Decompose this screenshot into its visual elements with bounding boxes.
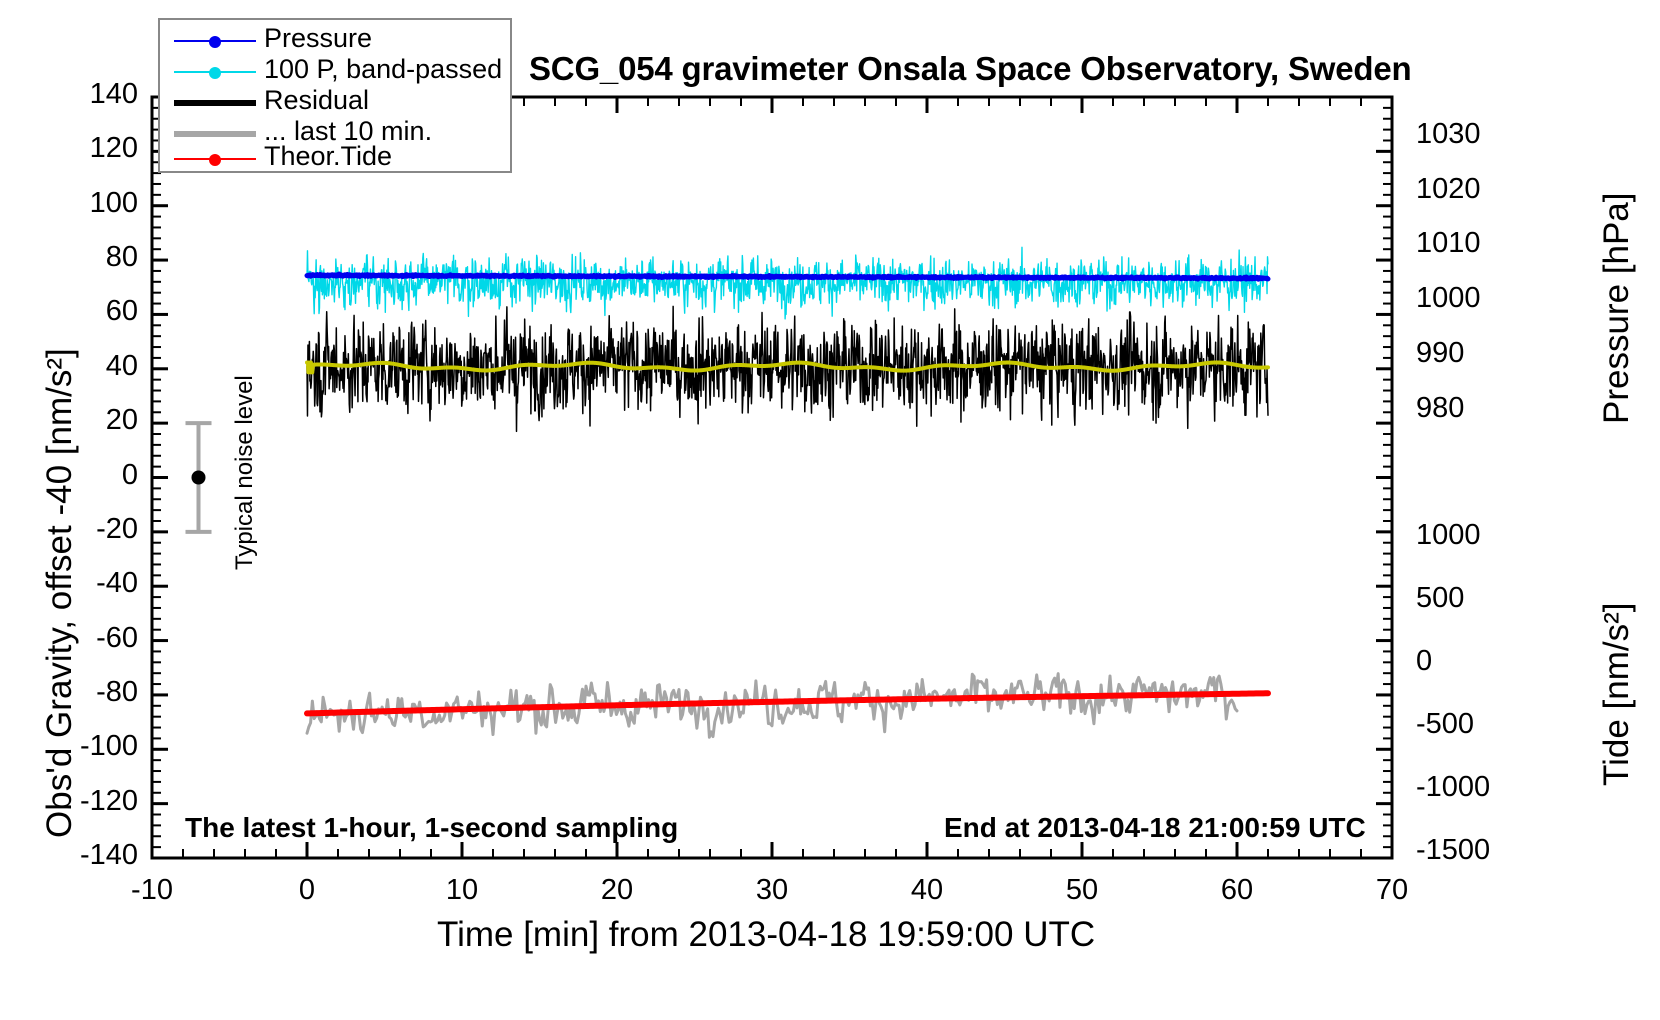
- x-tick-label: 60: [1197, 874, 1277, 907]
- legend-swatch-dot: [209, 67, 221, 79]
- legend-item-pressure[interactable]: Pressure: [160, 26, 510, 57]
- y-left-tick-label: -100: [0, 730, 138, 763]
- y-left-tick-label: -60: [0, 622, 138, 655]
- series-bandpassed-pressure: [307, 247, 1268, 319]
- legend-swatch-line: [174, 131, 256, 137]
- x-tick-label: 50: [1042, 874, 1122, 907]
- y-right-pressure-tick-label: 1020: [1416, 173, 1481, 206]
- noise-level-label: Typical noise level: [231, 375, 259, 570]
- x-tick-label: 30: [732, 874, 812, 907]
- chart-figure: SCG_054 gravimeter Onsala Space Observat…: [0, 0, 1660, 1020]
- legend: Pressure 100 P, band-passed Residual ...…: [158, 18, 512, 173]
- x-tick-label: 10: [422, 874, 502, 907]
- y-left-tick-label: 140: [0, 78, 138, 111]
- x-tick-label: 40: [887, 874, 967, 907]
- y-left-tick-label: 40: [0, 350, 138, 383]
- x-tick-label: -10: [112, 874, 192, 907]
- y-left-tick-label: 0: [0, 459, 138, 492]
- y-left-tick-label: -80: [0, 676, 138, 709]
- y-axis-right-pressure-title: Pressure [hPa]: [1597, 193, 1637, 425]
- legend-item-theortide[interactable]: Theor.Tide: [160, 144, 510, 175]
- y-right-tide-tick-label: -1500: [1416, 834, 1490, 867]
- series-last-10-min: [307, 674, 1237, 738]
- y-right-tide-tick-label: 500: [1416, 582, 1464, 615]
- legend-item-residual[interactable]: Residual: [160, 88, 510, 119]
- x-tick-label: 70: [1352, 874, 1432, 907]
- y-right-tide-tick-label: 0: [1416, 645, 1432, 678]
- y-right-pressure-tick-label: 1030: [1416, 118, 1481, 151]
- y-left-tick-label: -40: [0, 567, 138, 600]
- series-pressure: [307, 274, 1268, 279]
- y-left-tick-label: 100: [0, 187, 138, 220]
- plot-frame: [152, 97, 1392, 858]
- axis-ticks: [152, 97, 1392, 858]
- y-right-tide-tick-label: 1000: [1416, 519, 1481, 552]
- y-right-pressure-tick-label: 1000: [1416, 282, 1481, 315]
- legend-label: Theor.Tide: [264, 141, 392, 172]
- x-tick-label: 0: [267, 874, 347, 907]
- y-left-tick-label: 60: [0, 295, 138, 328]
- footer-right-note: End at 2013-04-18 21:00:59 UTC: [944, 812, 1366, 844]
- legend-label: Pressure: [264, 23, 372, 54]
- legend-swatch-dot: [209, 154, 221, 166]
- y-left-tick-label: -120: [0, 785, 138, 818]
- legend-label: Residual: [264, 85, 369, 116]
- footer-left-note: The latest 1-hour, 1-second sampling: [185, 812, 678, 844]
- y-left-tick-label: 120: [0, 132, 138, 165]
- y-right-tide-tick-label: -1000: [1416, 771, 1490, 804]
- legend-swatch-line: [174, 100, 256, 106]
- legend-label: 100 P, band-passed: [264, 54, 502, 85]
- chart-title: SCG_054 gravimeter Onsala Space Observat…: [529, 50, 1411, 88]
- y-right-tide-tick-label: -500: [1416, 708, 1474, 741]
- y-right-pressure-tick-label: 990: [1416, 337, 1464, 370]
- legend-item-bandpassed[interactable]: 100 P, band-passed: [160, 57, 510, 88]
- y-right-pressure-tick-label: 980: [1416, 392, 1464, 425]
- y-axis-right-tide-title: Tide [nm/s²]: [1597, 603, 1637, 786]
- x-axis-title: Time [min] from 2013-04-18 19:59:00 UTC: [437, 915, 1095, 955]
- legend-swatch-dot: [209, 36, 221, 48]
- typical-noise-level-marker: [186, 423, 212, 532]
- y-left-tick-label: 20: [0, 404, 138, 437]
- x-tick-label: 20: [577, 874, 657, 907]
- y-right-pressure-tick-label: 1010: [1416, 227, 1481, 260]
- y-left-tick-label: -20: [0, 513, 138, 546]
- y-left-tick-label: -140: [0, 839, 138, 872]
- y-left-tick-label: 80: [0, 241, 138, 274]
